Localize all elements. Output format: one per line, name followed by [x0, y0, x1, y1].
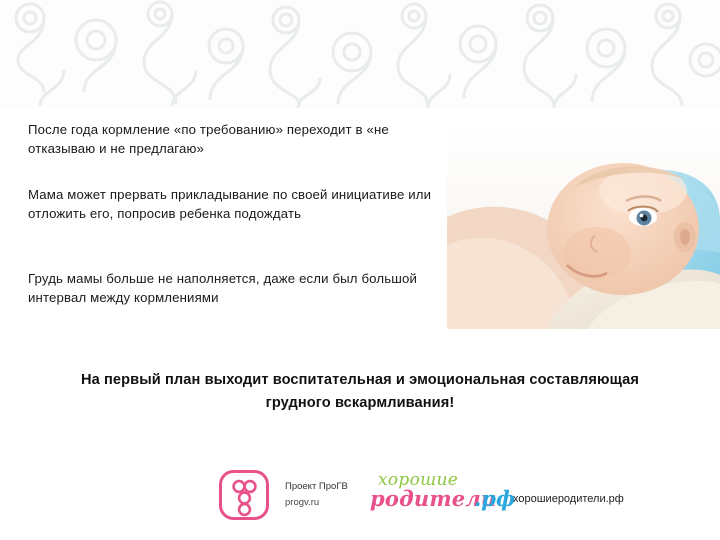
- progv-logo-icon: [219, 470, 269, 520]
- body-paragraph-2: Мама может прервать прикладывание по сво…: [28, 185, 438, 223]
- slide-canvas: После года кормление «по требованию» пер…: [0, 0, 720, 540]
- body-paragraph-1: После года кормление «по требованию» пер…: [28, 120, 448, 158]
- decorative-swirl-band: [0, 0, 720, 108]
- project-site: progv.ru: [285, 495, 365, 511]
- swirl-pattern-icon: [0, 0, 720, 108]
- project-credit: Проект ПроГВ progv.ru: [285, 479, 365, 511]
- project-label: Проект ПроГВ: [285, 479, 365, 495]
- site-url-text: хорошиеродители.рф: [513, 493, 624, 505]
- horoshie-roditeli-logo: хорошие родители .рф: [370, 470, 510, 516]
- body-paragraph-3: Грудь мамы больше не наполняется, даже е…: [28, 269, 446, 307]
- logo-word-domain: .рф: [474, 486, 515, 511]
- breastfeeding-photo: [447, 125, 720, 329]
- photo-illustration: [447, 125, 720, 329]
- conclusion-text: На первый план выходит воспитательная и …: [60, 369, 660, 415]
- footer: Проект ПроГВ progv.ru хорошие родители .…: [0, 466, 720, 540]
